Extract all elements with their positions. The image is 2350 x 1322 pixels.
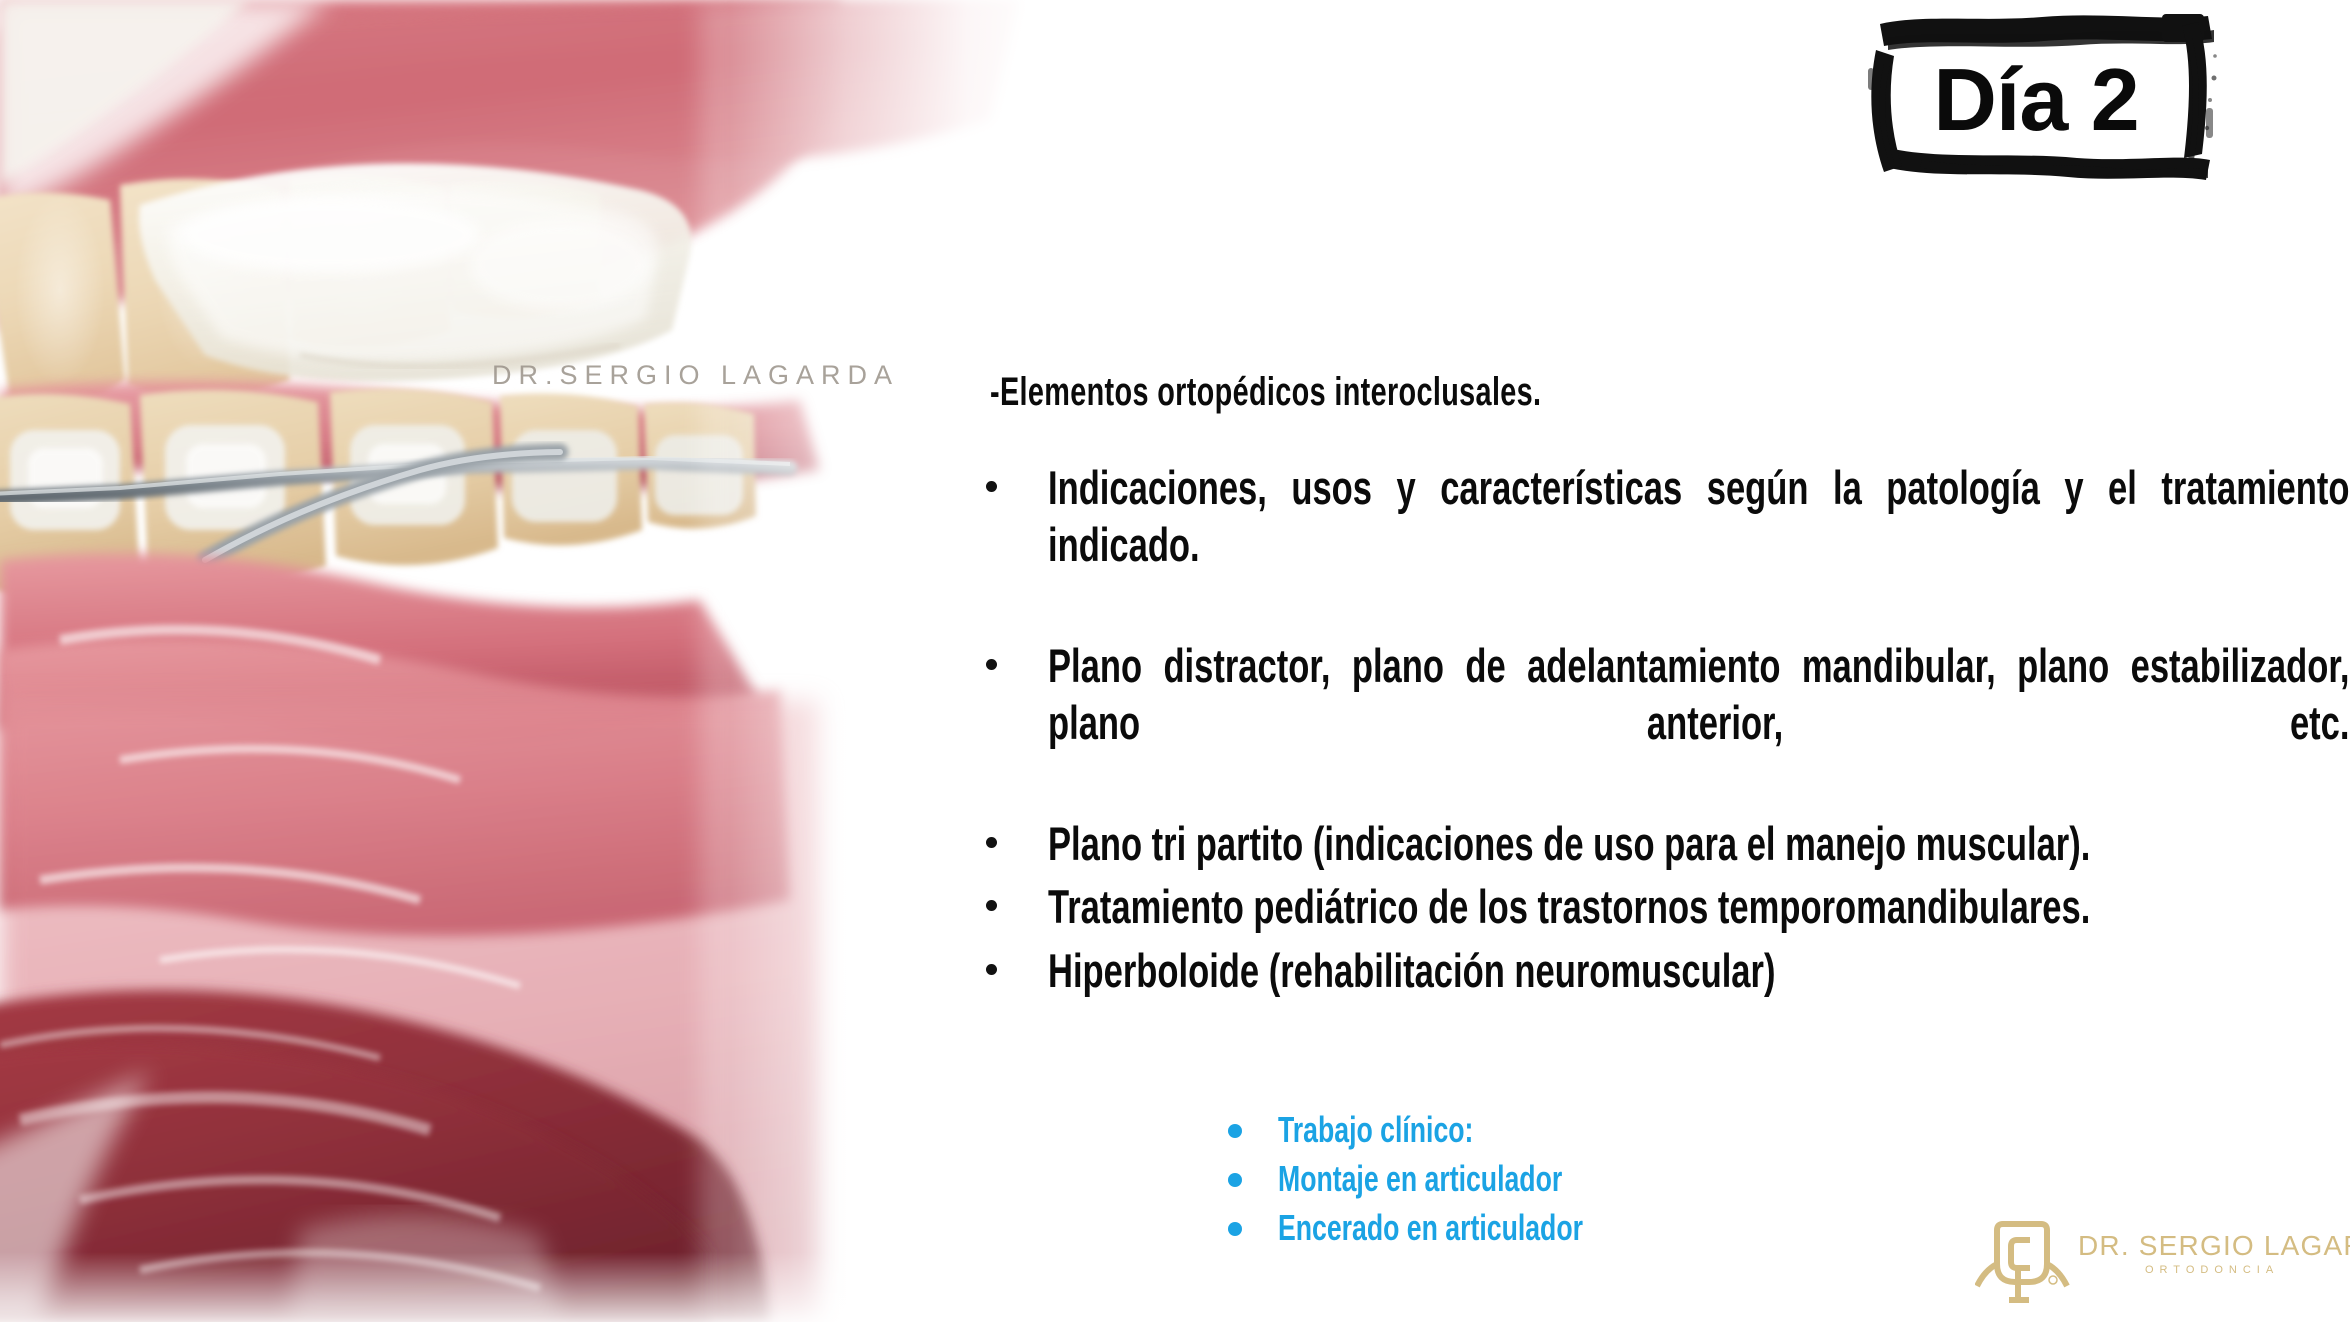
bullet-dot-icon	[986, 481, 997, 492]
bullet-dot-icon	[986, 900, 997, 911]
bullet-dot-icon	[1228, 1222, 1242, 1236]
list-item: Hiperboloide (rehabilitación neuromuscul…	[960, 942, 2350, 999]
list-item: Indicaciones, usos y características seg…	[960, 459, 2350, 631]
day-badge-label: Día 2	[1856, 10, 2216, 190]
list-item-label: Plano distractor, plano de adelantamient…	[1048, 637, 2349, 809]
presentation-slide: DR.SERGIO LAGARDA	[0, 0, 2350, 1322]
list-item: Plano distractor, plano de adelantamient…	[960, 637, 2350, 809]
bullet-dot-icon	[1228, 1124, 1242, 1138]
list-item-label: Hiperboloide (rehabilitación neuromuscul…	[1048, 942, 2349, 999]
slide-content: -Elementos ortopédicos interoclusales. I…	[960, 370, 2350, 1005]
list-item: Tratamiento pediátrico de los trastornos…	[960, 878, 2350, 935]
list-item: Encerado en articulador	[1150, 1206, 1850, 1255]
bullet-dot-icon	[986, 659, 997, 670]
day-badge: Día 2	[1862, 8, 2222, 188]
section-heading: -Elementos ortopédicos interoclusales.	[990, 370, 1969, 415]
bullet-dot-icon	[986, 964, 997, 975]
clinical-work-list: Trabajo clínico: Montaje en articulador …	[1150, 1108, 1850, 1255]
list-item-label: Montaje en articulador	[1278, 1157, 1701, 1197]
main-bullet-list: Indicaciones, usos y características seg…	[960, 459, 2350, 999]
logo-tagline: ORTODONCIA	[2145, 1264, 2279, 1276]
list-item: Trabajo clínico:	[1150, 1108, 1850, 1157]
clinical-photo: DR.SERGIO LAGARDA	[0, 0, 1060, 1322]
list-item: Montaje en articulador	[1150, 1157, 1850, 1206]
list-item: Plano tri partito (indicaciones de uso p…	[960, 815, 2350, 872]
list-item-label: Trabajo clínico:	[1278, 1108, 1701, 1148]
photo-watermark: DR.SERGIO LAGARDA	[492, 360, 899, 391]
logo-name: DR. SERGIO LAGARDA	[2078, 1230, 2350, 1262]
list-item-label: Indicaciones, usos y características seg…	[1048, 459, 2349, 631]
intraoral-photo-illustration	[0, 0, 1060, 1322]
bullet-dot-icon	[1228, 1173, 1242, 1187]
list-item-label: Plano tri partito (indicaciones de uso p…	[1048, 815, 2349, 872]
bullet-dot-icon	[986, 837, 997, 848]
tooth-monogram-icon	[1975, 1212, 2075, 1312]
list-item-label: Tratamiento pediátrico de los trastornos…	[1048, 878, 2349, 935]
list-item-label: Encerado en articulador	[1278, 1206, 1701, 1246]
brand-logo: DR. SERGIO LAGARDA ORTODONCIA	[1975, 1212, 2335, 1312]
